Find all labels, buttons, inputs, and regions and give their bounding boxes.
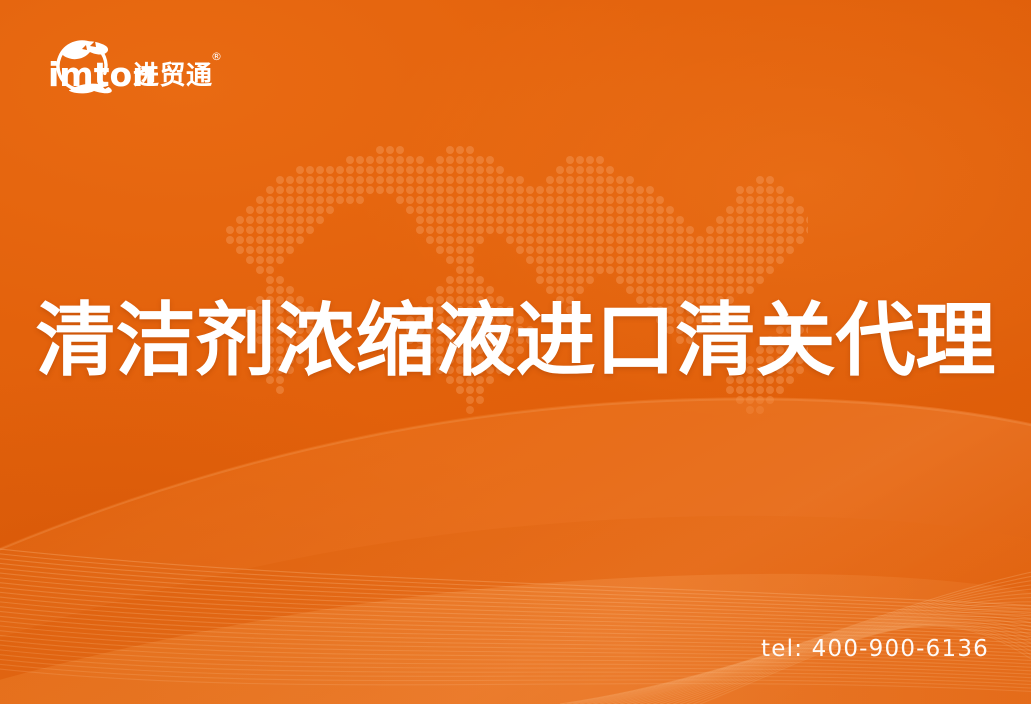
registered-trademark-icon: ® xyxy=(211,50,222,63)
brand-logo[interactable]: imton 进贸通 ® xyxy=(46,30,226,102)
page-title: 清洁剂浓缩液进口清关代理 xyxy=(0,296,1031,386)
contact-phone[interactable]: tel: 400-900-6136 xyxy=(761,636,989,662)
logo-chinese-name: 进贸通 xyxy=(133,61,213,91)
promo-banner: imton 进贸通 ® 清洁剂浓缩液进口清关代理 tel: 400-900-61… xyxy=(0,0,1031,704)
line-texture xyxy=(0,474,1031,704)
